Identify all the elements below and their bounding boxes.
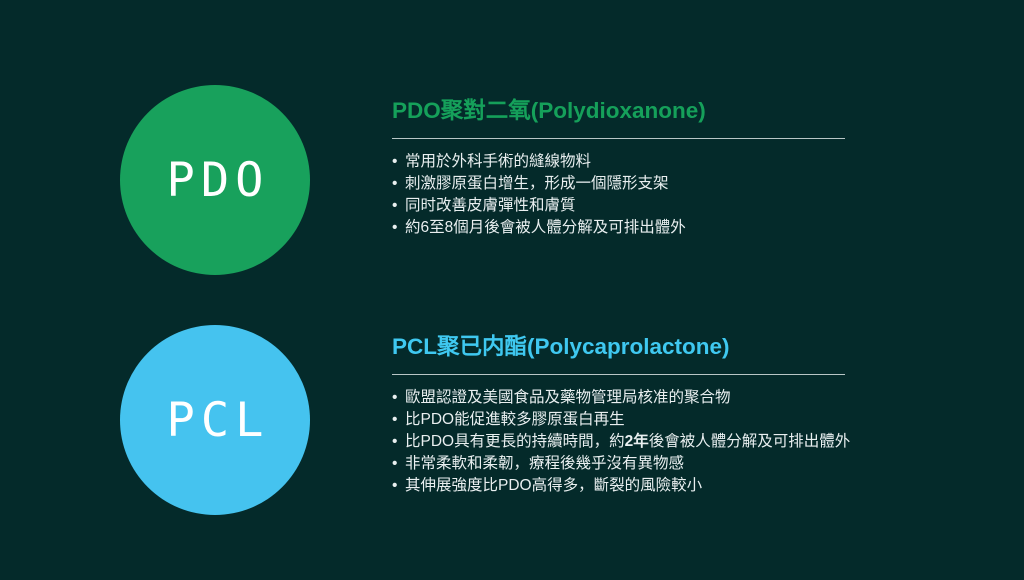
list-item: 比PDO具有更長的持續時間，約2年後會被人體分解及可排出體外 (392, 431, 862, 453)
section-pcl: PCL PCL聚已内酯(Polycaprolactone) 歐盟認證及美國食品及… (0, 325, 1024, 525)
pdo-badge-circle: PDO (120, 85, 310, 275)
list-item: 非常柔軟和柔韌，療程後幾乎沒有異物感 (392, 453, 862, 475)
section-pdo: PDO PDO聚對二氧(Polydioxanone) 常用於外科手術的縫線物料 … (0, 85, 1024, 295)
pdo-content: PDO聚對二氧(Polydioxanone) 常用於外科手術的縫線物料 刺激膠原… (392, 97, 862, 239)
list-item: 約6至8個月後會被人體分解及可排出體外 (392, 217, 862, 239)
pdo-badge-label: PDO (161, 157, 270, 204)
list-item: 比PDO能促進較多膠原蛋白再生 (392, 409, 862, 431)
slide-canvas: PDO PDO聚對二氧(Polydioxanone) 常用於外科手術的縫線物料 … (0, 0, 1024, 580)
list-item: 其伸展強度比PDO高得多，斷裂的風險較小 (392, 475, 862, 497)
pdo-heading: PDO聚對二氧(Polydioxanone) (392, 97, 862, 124)
list-item: 同时改善皮膚彈性和膚質 (392, 195, 862, 217)
list-item: 歐盟認證及美國食品及藥物管理局核准的聚合物 (392, 387, 862, 409)
pcl-badge-label: PCL (161, 397, 270, 444)
pcl-bullet-list: 歐盟認證及美國食品及藥物管理局核准的聚合物 比PDO能促進較多膠原蛋白再生 比P… (392, 387, 862, 497)
list-item: 刺激膠原蛋白增生，形成一個隱形支架 (392, 173, 862, 195)
pcl-heading: PCL聚已内酯(Polycaprolactone) (392, 333, 862, 360)
pcl-content: PCL聚已内酯(Polycaprolactone) 歐盟認證及美國食品及藥物管理… (392, 333, 862, 497)
pdo-bullet-list: 常用於外科手術的縫線物料 刺激膠原蛋白增生，形成一個隱形支架 同时改善皮膚彈性和… (392, 151, 862, 239)
pdo-divider (392, 138, 845, 139)
list-item: 常用於外科手術的縫線物料 (392, 151, 862, 173)
pcl-badge-circle: PCL (120, 325, 310, 515)
pcl-divider (392, 374, 845, 375)
